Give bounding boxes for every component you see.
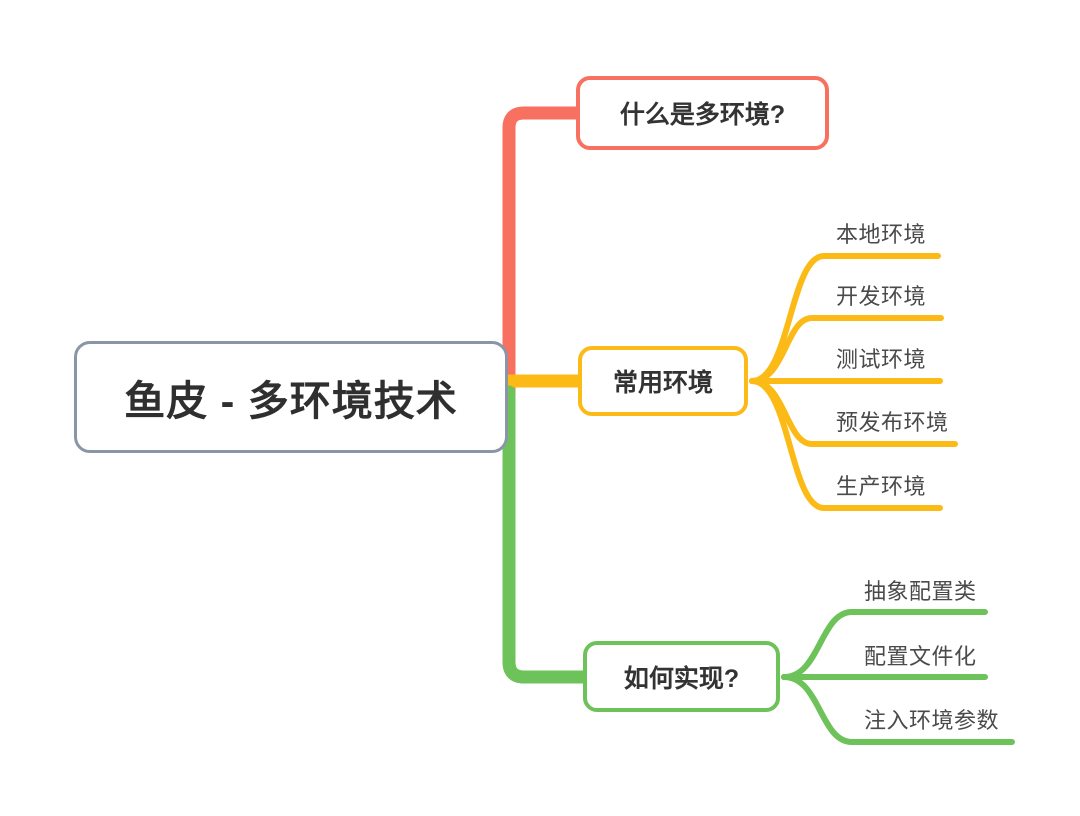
leaf-label-local-env[interactable]: 本地环境 [836,217,926,249]
leaf-label-config-file[interactable]: 配置文件化 [864,639,977,671]
root-node[interactable]: 鱼皮 - 多环境技术 [74,341,508,453]
branch-node-what-is-multi-env[interactable]: 什么是多环境? [576,76,829,150]
leaf-label-inject-env-params[interactable]: 注入环境参数 [864,703,999,735]
leaf-label-production-env[interactable]: 生产环境 [836,469,926,501]
connector-root-to-branch-3 [509,392,585,677]
branch-node-common-environments[interactable]: 常用环境 [578,346,748,416]
connector-root-to-branch-1 [509,113,578,392]
branch-node-how-to-implement[interactable]: 如何实现? [583,641,780,712]
leaf-label-abstract-config-class[interactable]: 抽象配置类 [864,574,977,606]
leaf-label-test-env[interactable]: 测试环境 [836,342,926,374]
mindmap-canvas: 鱼皮 - 多环境技术 什么是多环境? 常用环境 如何实现? 本地环境 开发环境 … [0,0,1080,816]
leaf-label-prerelease-env[interactable]: 预发布环境 [836,405,949,437]
leaf-label-dev-env[interactable]: 开发环境 [836,279,926,311]
